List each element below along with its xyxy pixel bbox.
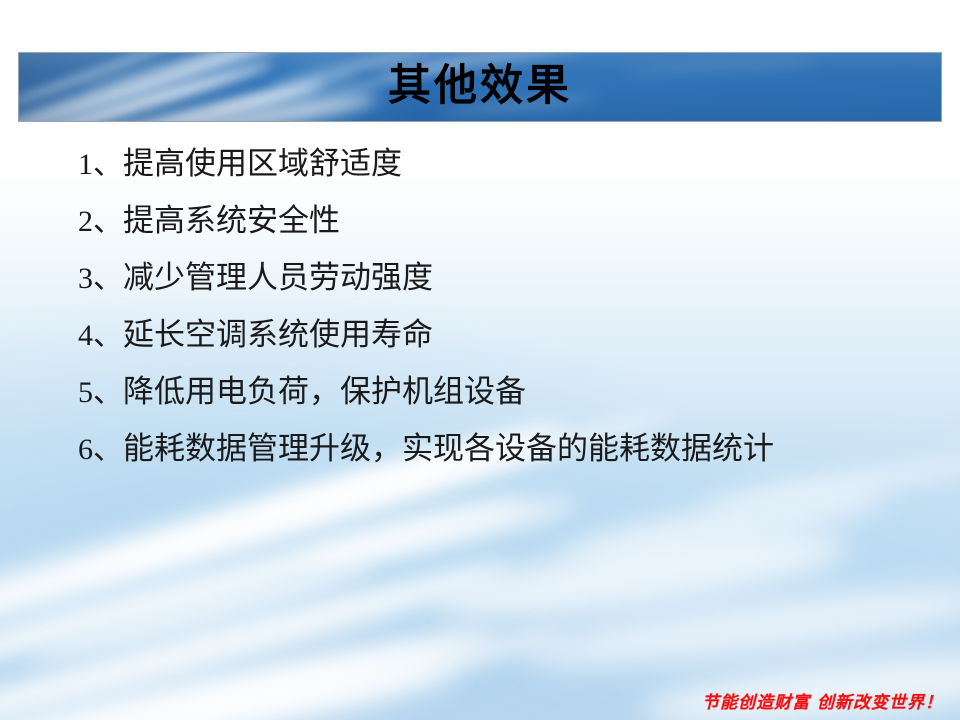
list-item-label: 提高使用区域舒适度 — [123, 148, 402, 179]
list-item: 5、 降低用电负荷，保护机组设备 — [78, 376, 938, 433]
list-item: 3、 减少管理人员劳动强度 — [78, 262, 938, 319]
bullet-list: 1、 提高使用区域舒适度 2、 提高系统安全性 3、 减少管理人员劳动强度 4、… — [78, 148, 938, 490]
slide-canvas: 其他效果 1、 提高使用区域舒适度 2、 提高系统安全性 3、 减少管理人员劳动… — [0, 0, 960, 720]
list-item: 2、 提高系统安全性 — [78, 205, 938, 262]
cloud-streak — [300, 486, 581, 577]
cloud-streak — [0, 613, 497, 720]
slide-title: 其他效果 — [19, 53, 941, 121]
footer-slogan: 节能创造财富 创新改变世界！ — [702, 688, 943, 713]
cloud-streak — [23, 554, 378, 674]
list-item-number: 3、 — [78, 264, 123, 294]
cloud-streak — [0, 485, 533, 701]
list-item-label: 减少管理人员劳动强度 — [123, 262, 433, 293]
list-item-number: 2、 — [78, 207, 123, 237]
cloud-streak — [0, 548, 514, 720]
list-item: 1、 提高使用区域舒适度 — [78, 148, 938, 205]
cloud-streak — [428, 516, 853, 636]
cloud-streak — [0, 645, 460, 720]
list-item-label: 能耗数据管理升级，实现各设备的能耗数据统计 — [123, 433, 774, 464]
list-item: 6、 能耗数据管理升级，实现各设备的能耗数据统计 — [78, 433, 938, 490]
list-item: 4、 延长空调系统使用寿命 — [78, 319, 938, 376]
list-item-number: 1、 — [78, 150, 123, 180]
list-item-number: 4、 — [78, 321, 123, 351]
list-item-label: 提高系统安全性 — [123, 205, 340, 236]
list-item-number: 6、 — [78, 435, 123, 465]
cloud-streak — [559, 477, 891, 574]
list-item-number: 5、 — [78, 378, 123, 408]
cloud-streak — [518, 571, 960, 683]
list-item-label: 降低用电负荷，保护机组设备 — [123, 376, 526, 407]
list-item-label: 延长空调系统使用寿命 — [123, 319, 433, 350]
cloud-streak — [151, 617, 569, 720]
title-banner: 其他效果 — [18, 52, 942, 122]
